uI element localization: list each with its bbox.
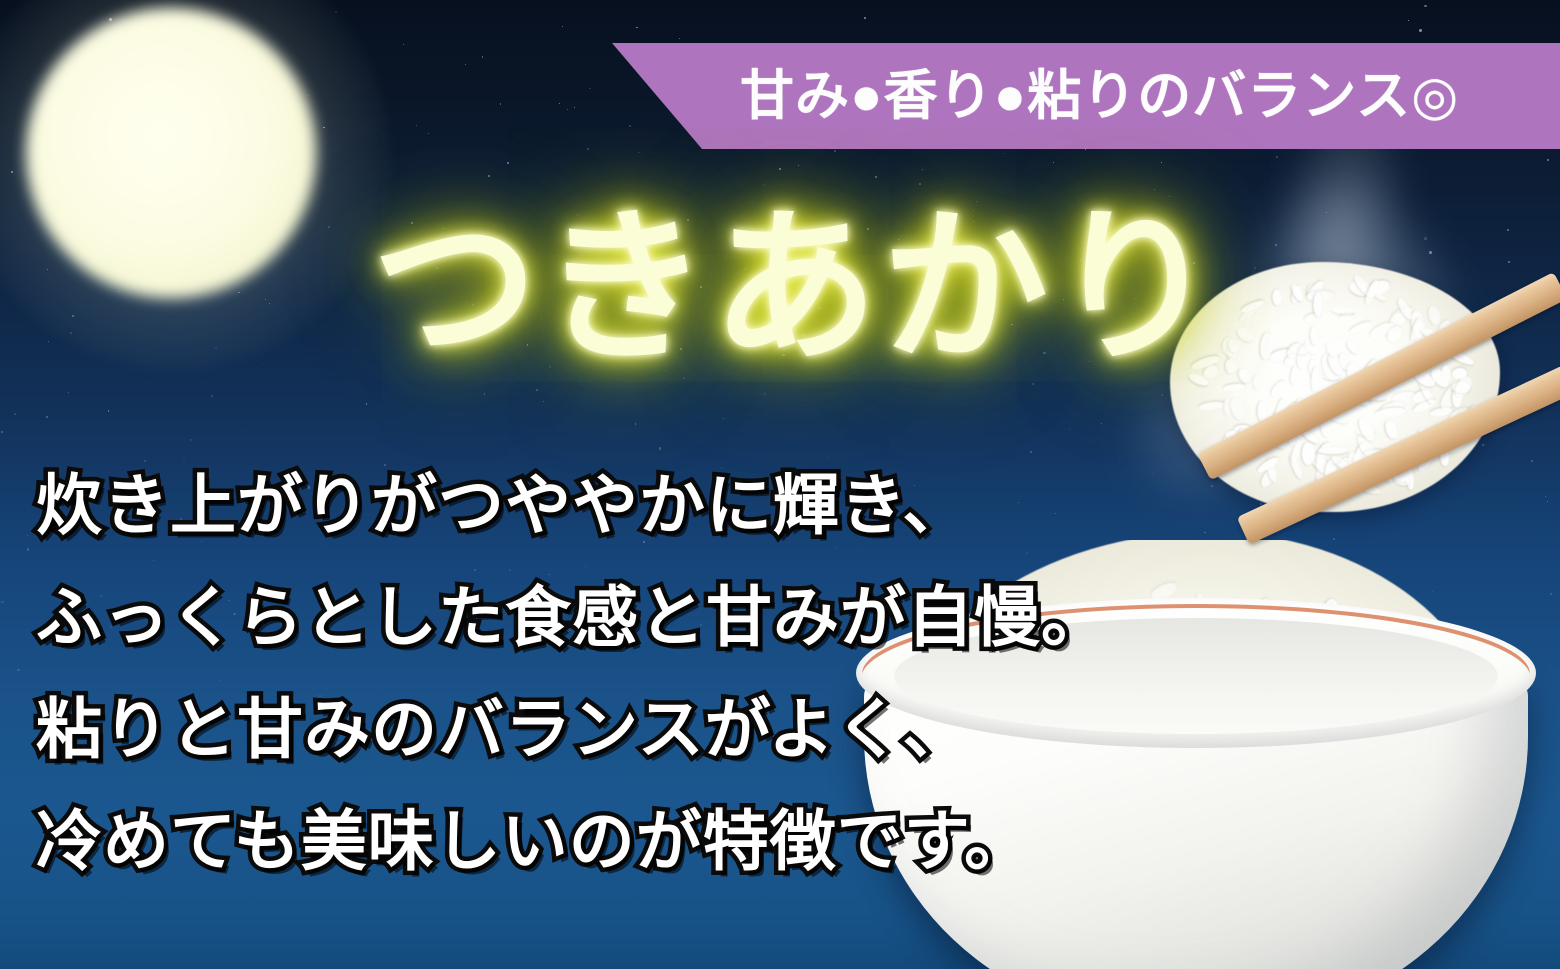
moon-icon [26, 8, 316, 298]
promo-banner: 甘み●香り●粘りのバランス◎ つきあかり 炊き上がりがつややかに輝き、 ふっくら… [0, 0, 1560, 969]
tagline-text: 甘み●香り●粘りのバランス◎ [740, 49, 1550, 143]
description-line: 炊き上がりがつややかに輝き、 [36, 472, 996, 538]
description-line: ふっくらとした食感と甘みが自慢。 [36, 584, 996, 650]
description-line: 粘りと甘みのバランスがよく、 [36, 696, 996, 762]
description-block: 炊き上がりがつややかに輝き、 ふっくらとした食感と甘みが自慢。 粘りと甘みのバラ… [36, 472, 996, 920]
page-title: つきあかり [372, 206, 1222, 372]
description-line: 冷めても美味しいのが特徴です。 [36, 808, 996, 874]
